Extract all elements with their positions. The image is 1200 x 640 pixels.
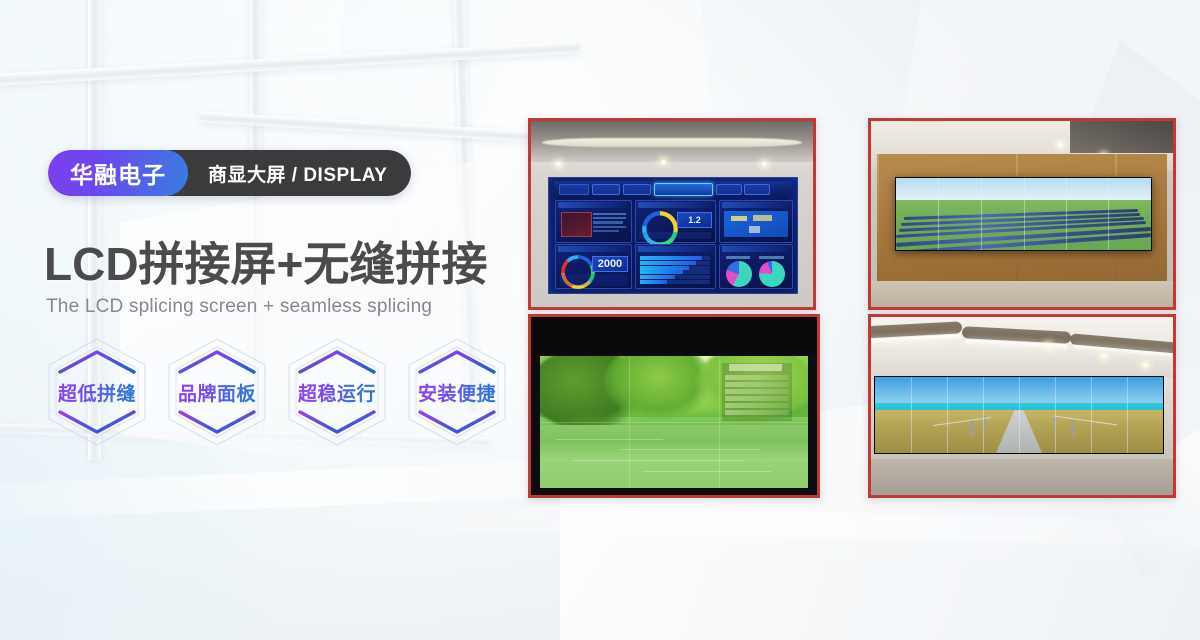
calendar-week-row bbox=[725, 389, 789, 394]
panel-seam bbox=[911, 377, 912, 453]
panel-seam bbox=[1091, 377, 1092, 453]
panel-seam bbox=[983, 377, 984, 453]
brand-badge-group: 华融电子 商显大屏 / DISPLAY bbox=[48, 150, 411, 196]
dashboard-card-barlist bbox=[635, 244, 716, 290]
feature-hexagon-4-label: 安装便捷 bbox=[418, 379, 496, 406]
dashboard-card-kpi: 2000 bbox=[555, 244, 631, 290]
donut-chart bbox=[642, 211, 678, 247]
ceiling-downlight bbox=[1046, 344, 1051, 348]
panel-seam bbox=[1019, 377, 1020, 453]
cove-light bbox=[542, 138, 801, 147]
card-header bbox=[638, 246, 713, 252]
calendar-week-row bbox=[725, 396, 789, 401]
feature-hexagon-list: 超低拼缝 品牌面板 超稳运行 bbox=[46, 336, 508, 448]
product-banner: 华融电子 商显大屏 / DISPLAY LCD拼接屏+无缝拼接 The LCD … bbox=[0, 0, 1200, 640]
panel-seam bbox=[1024, 178, 1025, 250]
photo-image bbox=[871, 317, 1173, 495]
calendar-title bbox=[729, 364, 782, 371]
lake-water bbox=[540, 425, 809, 488]
boardwalk-post bbox=[970, 421, 973, 436]
dashboard-nav-bar bbox=[554, 181, 792, 196]
card-header bbox=[558, 246, 628, 252]
card-header bbox=[558, 202, 628, 208]
category-badge: 商显大屏 / DISPLAY bbox=[168, 150, 411, 196]
bar-value bbox=[640, 266, 689, 270]
feature-hexagon-3: 超稳运行 bbox=[286, 336, 388, 448]
dashboard-nav-tab bbox=[623, 184, 651, 195]
ceiling-dark-band bbox=[1070, 121, 1173, 153]
solar-farm-image bbox=[896, 178, 1151, 250]
feature-hexagon-2: 品牌面板 bbox=[166, 336, 268, 448]
dashboard-nav-tab bbox=[744, 184, 770, 195]
feature-hexagon-4: 安装便捷 bbox=[406, 336, 508, 448]
dashboard-card-pies bbox=[719, 244, 793, 290]
product-photo-grid: 1.2 2000 bbox=[528, 118, 1176, 496]
card-header bbox=[722, 246, 790, 252]
panel-seam bbox=[1055, 377, 1056, 453]
feature-hexagon-1-label: 超低拼缝 bbox=[58, 379, 136, 406]
pie-chart bbox=[759, 261, 785, 287]
upper-dark-band bbox=[531, 317, 817, 354]
dashboard-nav-tab bbox=[592, 184, 620, 195]
panel-seam bbox=[981, 178, 982, 250]
feature-hexagon-2-label: 品牌面板 bbox=[178, 379, 256, 406]
dashboard-nav-tab bbox=[716, 184, 742, 195]
photo-image: 1.2 2000 bbox=[531, 121, 813, 307]
calendar-week-row bbox=[725, 410, 789, 415]
page-subtitle: The LCD splicing screen + seamless splic… bbox=[46, 296, 432, 318]
lcd-video-wall-screen bbox=[895, 177, 1152, 251]
water-ripple bbox=[620, 449, 760, 450]
dashboard-card-intro bbox=[555, 200, 631, 244]
panel-seam bbox=[1066, 178, 1067, 250]
feature-hexagon-3-label: 超稳运行 bbox=[298, 379, 376, 406]
dashboard-card-donut: 1.2 bbox=[635, 200, 716, 244]
calendar-overlay bbox=[722, 363, 792, 421]
panel-seam bbox=[1127, 377, 1128, 453]
bar-value bbox=[640, 280, 667, 284]
dashboard-title-tab bbox=[654, 183, 713, 197]
photo-solar-farm-video-wall bbox=[868, 118, 1176, 310]
kpi-box: 1.2 bbox=[677, 212, 712, 228]
feature-hexagon-1: 超低拼缝 bbox=[46, 336, 148, 448]
bar-value bbox=[640, 275, 675, 279]
beach-boardwalk-image bbox=[875, 377, 1163, 453]
photo-image bbox=[531, 317, 817, 495]
pie-chart bbox=[726, 261, 752, 287]
photo-image bbox=[871, 121, 1173, 307]
photo-willow-lake-video-wall bbox=[528, 314, 820, 498]
lcd-video-wall-screen: 1.2 2000 bbox=[548, 177, 798, 294]
panel-seam bbox=[947, 377, 948, 453]
water-ripple bbox=[642, 471, 771, 472]
floor bbox=[871, 459, 1173, 495]
photo-beach-boardwalk-video-wall bbox=[868, 314, 1176, 498]
bar-value bbox=[640, 261, 696, 265]
calendar-week-row bbox=[725, 375, 789, 380]
brand-name-badge: 华融电子 bbox=[48, 150, 188, 196]
calendar-week-row bbox=[725, 382, 789, 387]
panel-seam bbox=[540, 422, 809, 423]
panel-seam bbox=[1108, 178, 1109, 250]
bar-value bbox=[640, 256, 702, 260]
dashboard-card-diagram bbox=[719, 200, 793, 244]
boardwalk-post bbox=[1071, 421, 1074, 436]
bar-value bbox=[640, 270, 683, 274]
dashboard-timestamp bbox=[559, 184, 590, 195]
floor bbox=[871, 281, 1173, 307]
photo-data-dashboard-video-wall: 1.2 2000 bbox=[528, 118, 816, 310]
kpi-box: 2000 bbox=[592, 256, 628, 272]
calendar-week-row bbox=[725, 403, 789, 408]
lcd-video-wall-screen bbox=[874, 376, 1164, 454]
water-ripple bbox=[556, 439, 664, 440]
lcd-video-wall-screen bbox=[540, 356, 809, 488]
ceiling-spotlight bbox=[661, 160, 666, 164]
card-header bbox=[722, 202, 790, 208]
page-title: LCD拼接屏+无缝拼接 bbox=[44, 228, 487, 294]
panel-seam bbox=[938, 178, 939, 250]
card-header bbox=[638, 202, 713, 208]
copy-column: 华融电子 商显大屏 / DISPLAY LCD拼接屏+无缝拼接 The LCD … bbox=[0, 0, 520, 640]
